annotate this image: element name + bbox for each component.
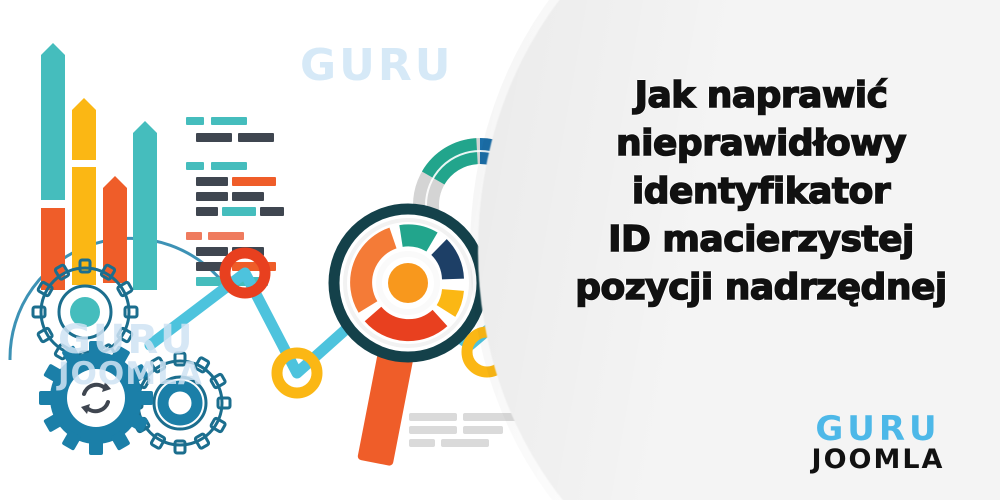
- donut-center-dot: [388, 263, 428, 303]
- magnifier-with-donut-chart: [334, 209, 482, 357]
- brand-logo-guru: GURU: [788, 412, 968, 446]
- watermark-left-logo: GURU JOOMLA: [58, 322, 203, 390]
- watermark-left-joomla: JOOMLA: [58, 358, 203, 390]
- brand-logo-joomla: JOOMLA: [788, 445, 968, 474]
- bar-2-top: [72, 98, 96, 160]
- poster-canvas: GURU GURU JOOMLA Jak naprawić nieprawidł…: [0, 0, 1000, 500]
- bar-1-top: [41, 43, 65, 200]
- watermark-left-guru: GURU: [58, 322, 203, 358]
- watermark-top-guru: GURU: [300, 44, 453, 88]
- bar-chart: [41, 43, 157, 290]
- headline-line-1: Jak naprawić: [528, 72, 994, 120]
- brand-logo: GURU JOOMLA: [788, 412, 968, 474]
- page-title: Jak naprawić nieprawidłowy identyfikator…: [528, 72, 994, 312]
- headline-line-3: identyfikator: [528, 168, 994, 216]
- donut-seg-teal: [401, 235, 432, 242]
- gray-placeholder-lines: [409, 413, 517, 447]
- bar-4: [133, 121, 157, 290]
- headline-line-5: pozycji nadrzędnej: [528, 264, 994, 312]
- headline-line-2: nieprawidłowy: [528, 120, 994, 168]
- headline-line-4: ID macierzystej: [528, 216, 994, 264]
- donut-seg-yellow: [446, 290, 453, 311]
